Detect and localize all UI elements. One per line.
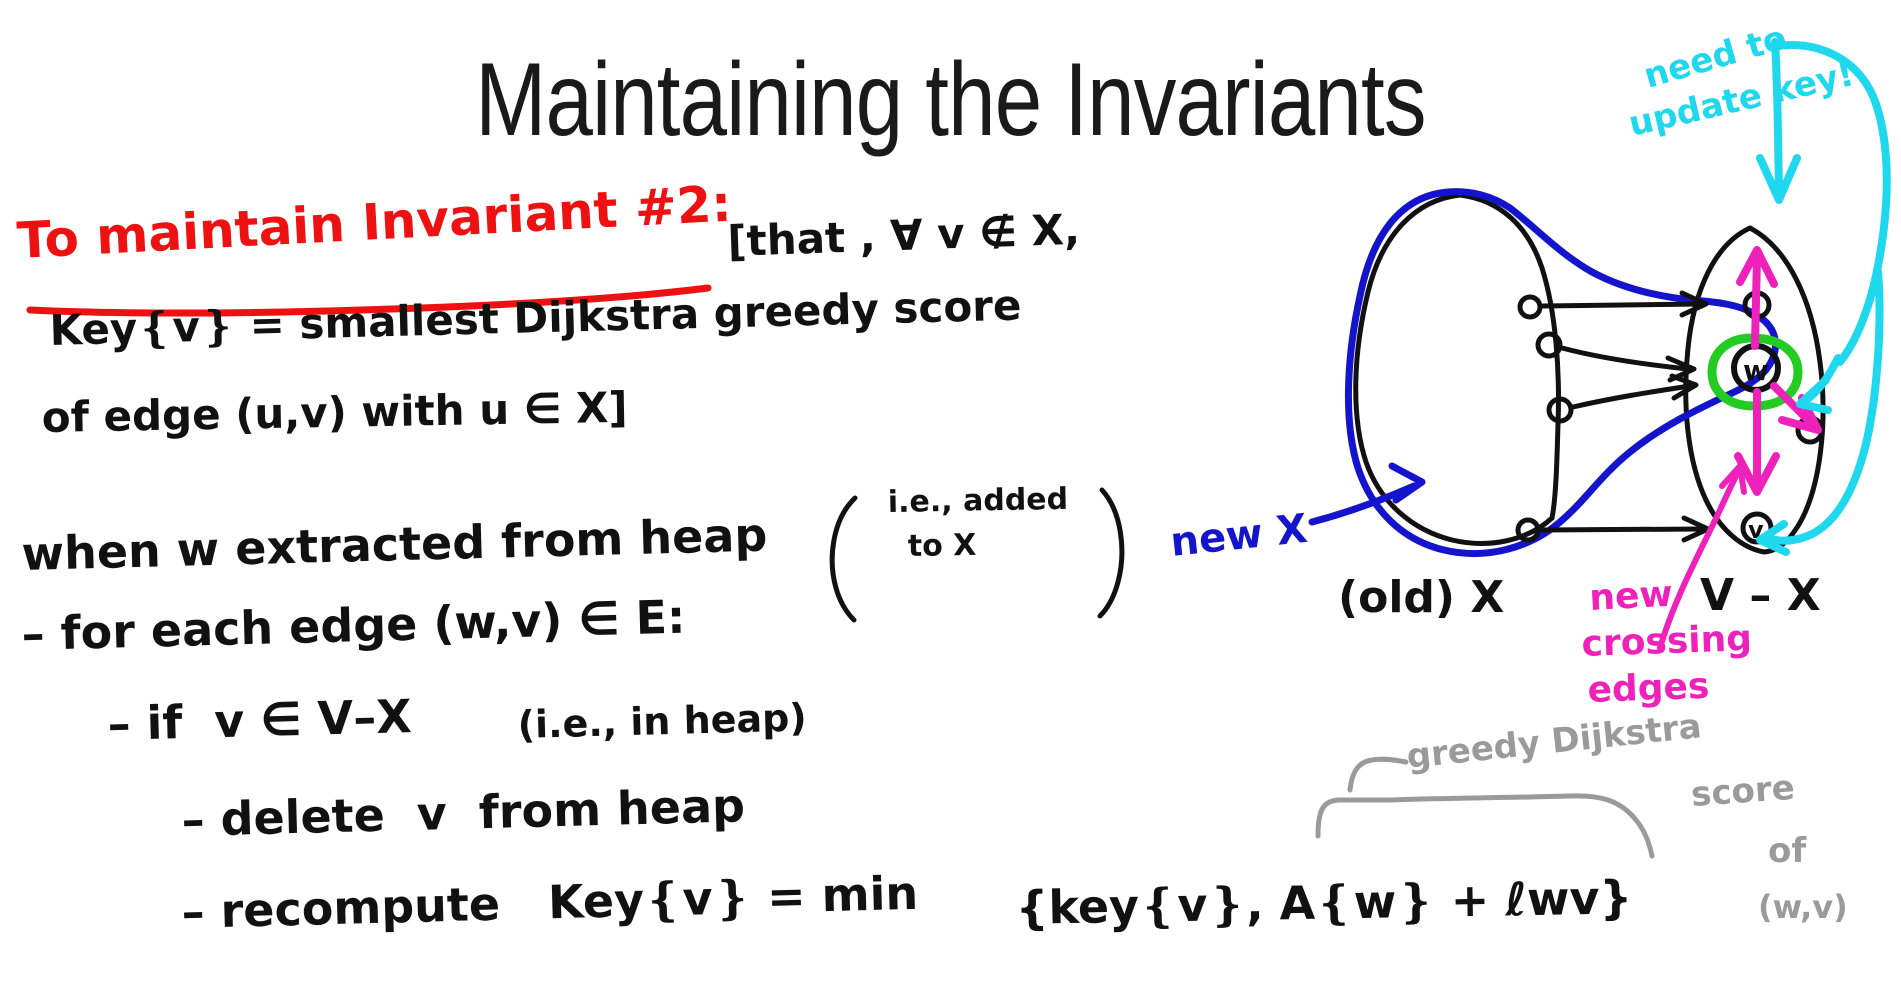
- gray-annotation-line-1: greedy Dijkstra: [1405, 706, 1703, 777]
- gray-annotation-line-3: of: [1768, 831, 1807, 871]
- invariant-line-3: of edge (u,v) with u ∈ X]: [41, 383, 628, 442]
- invariant-line-1: [that , ∀ v ∉ X,: [727, 205, 1081, 266]
- body-line-if-in-heap: – if v ∈ V–X: [107, 689, 412, 751]
- aside-open-paren: [832, 498, 855, 620]
- new-x-label: new X: [1168, 506, 1310, 566]
- body-line-recompute-right: {key❴v❵, A❴w❵ + ℓwv}: [1015, 870, 1632, 935]
- body-line-recompute-left: – recompute Key❴v❵ = min: [181, 866, 919, 939]
- gray-annotation-line-2: score: [1690, 768, 1796, 815]
- body-line-if-in-heap-aside: (i.e., in heap): [517, 695, 807, 747]
- magenta-label-line-2: crossing: [1581, 618, 1753, 665]
- magenta-label-line-1: new: [1588, 574, 1673, 619]
- aside-line-1: i.e., added: [888, 482, 1069, 520]
- crossing-edge-4: [1541, 529, 1702, 530]
- body-line-for-each-edge: – for each edge (w,v) ∈ E:: [21, 590, 686, 661]
- invariant-line-2: Key❴v❵ = smallest Dijkstra greedy score: [49, 281, 1022, 355]
- gray-brace: [1318, 796, 1652, 856]
- gray-annotation-line-4: (w,v): [1758, 888, 1848, 926]
- magenta-label-line-3: edges: [1587, 666, 1710, 711]
- aside-line-2: to X: [908, 528, 977, 564]
- old-x-label: (old) X: [1338, 572, 1504, 623]
- gray-brace-tip: [1350, 759, 1406, 790]
- body-line-when-extracted: when w extracted from heap: [21, 507, 768, 581]
- magenta-arrow-up: [1755, 256, 1757, 346]
- algorithm-body-group: when w extracted from heap i.e., added t…: [21, 482, 1633, 939]
- old-x-boundary-left: [1356, 195, 1552, 543]
- diagram-group: w v need to u: [1168, 18, 1887, 711]
- node-w-label: w: [1743, 354, 1769, 387]
- body-line-delete-from-heap: – delete v from heap: [181, 778, 746, 847]
- slide-canvas: Maintaining the Invariants To maintain I…: [0, 0, 1901, 981]
- crossing-edge-1: [1543, 304, 1700, 306]
- left-node-1: [1520, 297, 1540, 317]
- handwritten-ink-layer: To maintain Invariant #2: [that , ∀ v ∉ …: [0, 0, 1901, 981]
- red-heading-text: To maintain Invariant #2:: [16, 175, 733, 270]
- v-minus-x-label: V – X: [1700, 570, 1821, 621]
- new-x-arrow-shaft: [1312, 486, 1414, 522]
- cyan-arrow-down-shaft: [1775, 42, 1779, 190]
- aside-close-paren: [1100, 490, 1122, 616]
